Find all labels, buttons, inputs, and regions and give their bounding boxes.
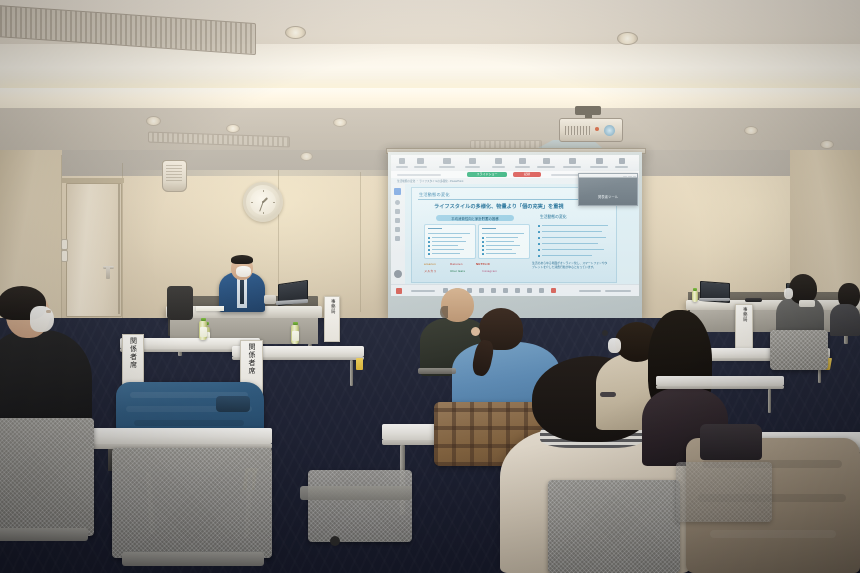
presenter-chair[interactable] [167, 286, 193, 320]
placard-text: 事務局 [330, 299, 335, 314]
placard-text: 関係者席 [130, 337, 137, 369]
chair-frame [122, 552, 264, 566]
attendee-face-mask [784, 288, 793, 299]
door-gap [118, 184, 120, 314]
presenter-device [264, 295, 276, 304]
wall-seam [122, 163, 123, 323]
wall-seam [360, 172, 361, 312]
chair[interactable] [308, 470, 412, 542]
attendee-face-mask [608, 338, 621, 353]
presenter-tie [240, 280, 244, 304]
entry-door[interactable] [66, 183, 122, 317]
downlight-icon [146, 116, 161, 126]
attendee-bald-sideburn [440, 306, 448, 318]
chair[interactable] [548, 480, 680, 573]
tea-bottle [291, 325, 299, 344]
downlight-icon [300, 152, 313, 161]
chair-seat [300, 486, 412, 500]
desk-leg [768, 389, 771, 413]
chair-caster [602, 330, 608, 336]
chair-base-arm [600, 392, 616, 397]
downlight-icon [820, 140, 834, 149]
downlight-icon [333, 118, 347, 127]
presenter-hair [231, 255, 253, 264]
downlight-icon [744, 126, 758, 135]
seminar-room-photo: スライドショー 記録 生活動態の変化 ・ ライフスタイルの多様化 - Power… [0, 0, 860, 573]
staff-laptop-base[interactable] [699, 298, 730, 301]
desk-right-row2 [656, 376, 784, 386]
chair[interactable] [676, 462, 772, 522]
door-lock-plate [106, 266, 110, 279]
attendee-far-right-torso [830, 304, 860, 336]
chair-frame [0, 528, 88, 541]
desk-edge [656, 386, 784, 389]
chair[interactable] [112, 448, 272, 558]
desk-leg [350, 360, 353, 386]
desk-crossbar [418, 368, 456, 374]
light-switch[interactable] [61, 250, 68, 262]
chair[interactable] [770, 330, 828, 370]
attendee-ear [471, 327, 480, 336]
downlight-icon [617, 32, 638, 45]
tea-bottle [692, 291, 698, 302]
chair[interactable] [0, 418, 94, 536]
light-switch[interactable] [61, 239, 68, 250]
downlight-icon [285, 26, 306, 39]
mask-strap [46, 310, 51, 313]
placard-text: 事務局 [742, 307, 747, 322]
tea-bottle [199, 321, 207, 340]
presenter-papers [196, 306, 224, 311]
coat-sleeve [216, 396, 250, 412]
bag-on-desk [700, 424, 762, 460]
ceiling-projector [559, 118, 623, 142]
cove-light [0, 88, 860, 110]
screen-glare [388, 152, 642, 318]
placard-text: 関係者席 [248, 343, 255, 375]
wall-speaker [162, 160, 187, 192]
microphone-icon[interactable] [745, 298, 762, 302]
desk-hook [356, 358, 363, 370]
presenter-face-mask [236, 266, 251, 277]
chair-caster [330, 536, 340, 546]
downlight-icon [226, 124, 240, 133]
wall-clock [243, 182, 283, 222]
staff-name-placard: 事務局 [735, 304, 753, 350]
attendee-collar [799, 300, 815, 307]
presenter-name-placard: 事務局 [324, 296, 340, 342]
